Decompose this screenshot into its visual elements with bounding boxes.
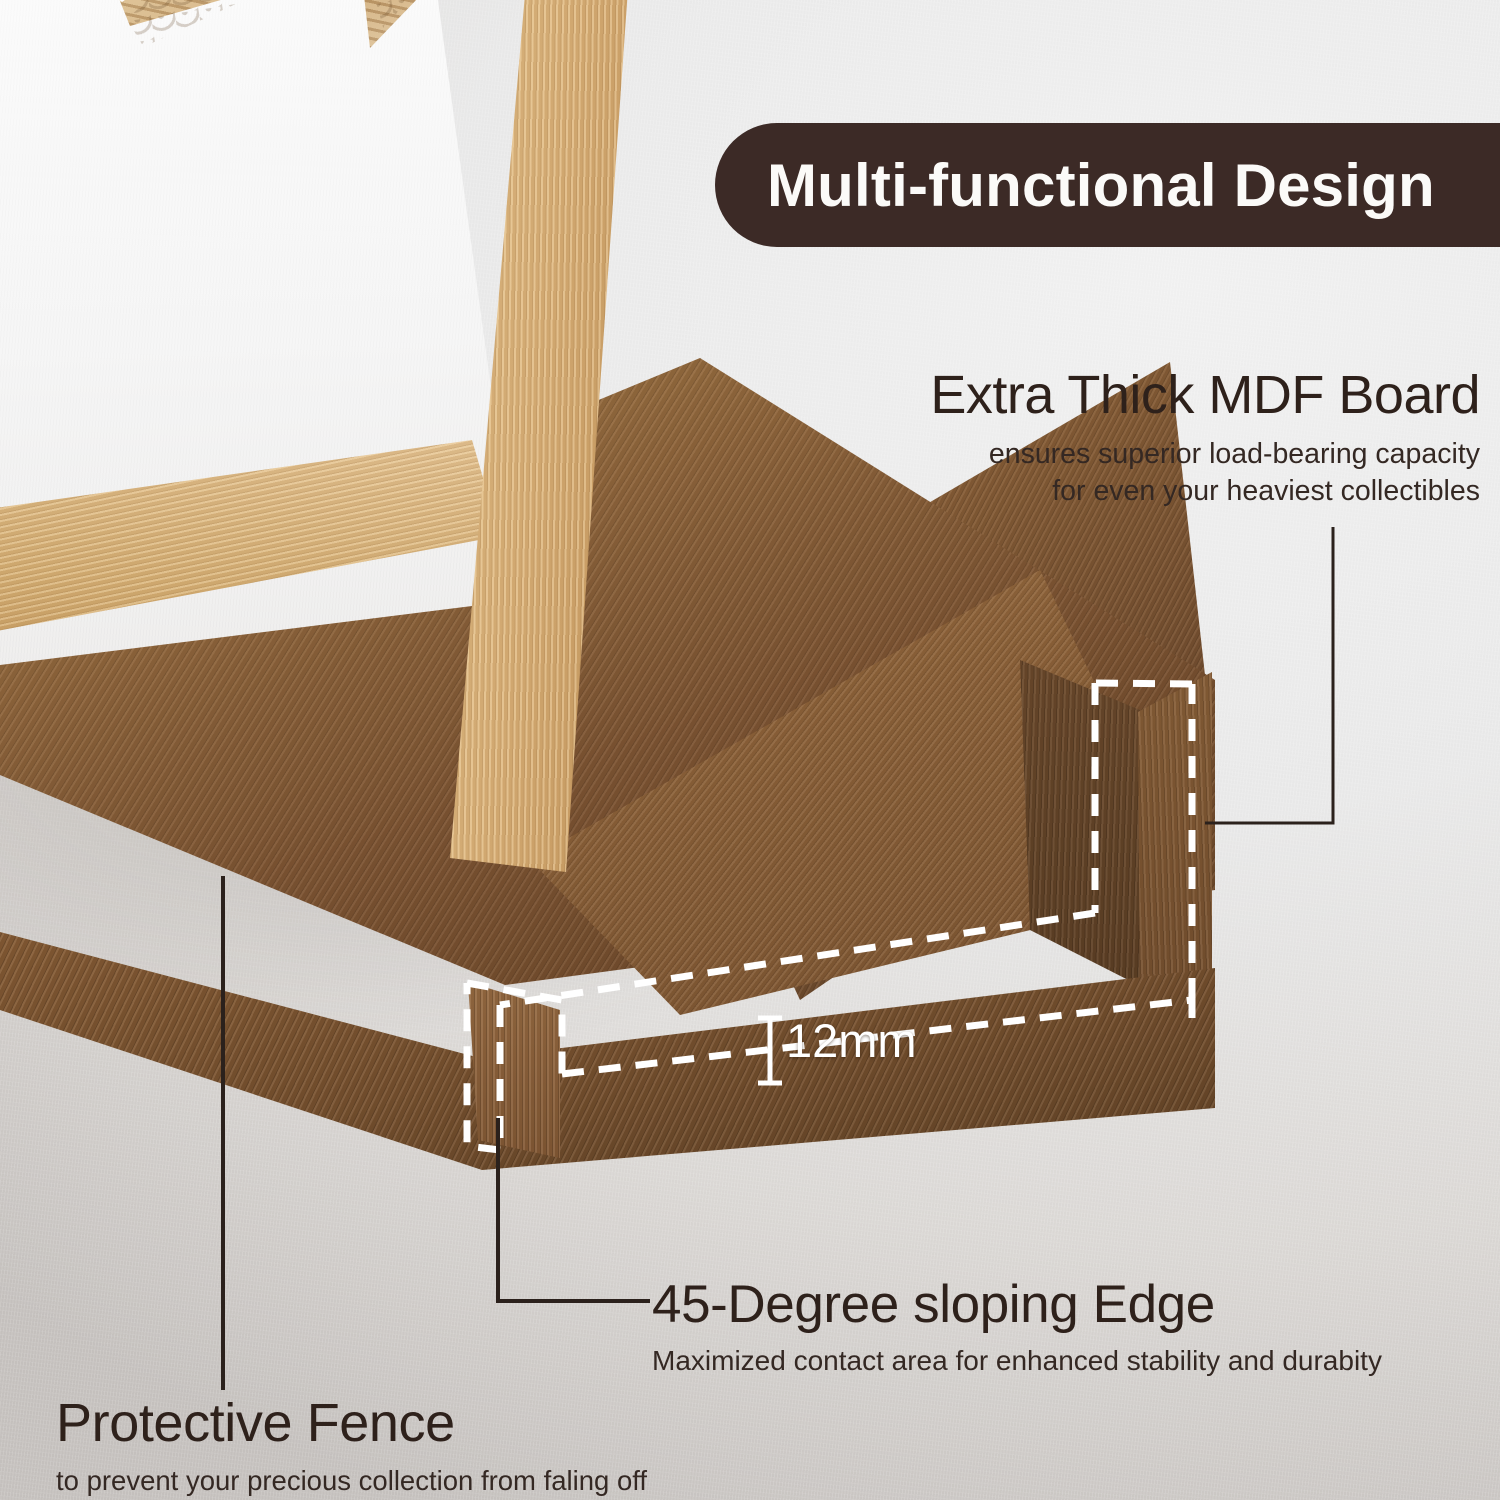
callout-sloping-edge-subtitle: Maximized contact area for enhanced stab… (652, 1343, 1382, 1379)
callout-mdf-board-title: Extra Thick MDF Board (930, 368, 1480, 423)
header-banner: Multi-functional Design (715, 123, 1500, 247)
callout-sloping-edge: 45-Degree sloping Edge Maximized contact… (652, 1278, 1382, 1379)
callout-protective-fence: Protective Fence to prevent your preciou… (56, 1396, 647, 1499)
infographic-canvas: Multi-functional Design Extra Thick MDF … (0, 0, 1500, 1500)
callout-mdf-board-subtitle-line2: for even your heaviest collectibles (930, 473, 1480, 510)
dimension-label-12mm: 12mm (786, 1013, 917, 1068)
callout-protective-fence-title: Protective Fence (56, 1396, 647, 1451)
callout-mdf-board-subtitle-line1: ensures superior load-bearing capacity (930, 436, 1480, 473)
callout-protective-fence-subtitle: to prevent your precious collection from… (56, 1463, 647, 1499)
callout-sloping-edge-title: 45-Degree sloping Edge (652, 1278, 1382, 1332)
banner-title: Multi-functional Design (767, 151, 1435, 220)
callout-mdf-board: Extra Thick MDF Board ensures superior l… (930, 368, 1480, 510)
callout-mdf-board-subtitle: ensures superior load-bearing capacity f… (930, 436, 1480, 510)
